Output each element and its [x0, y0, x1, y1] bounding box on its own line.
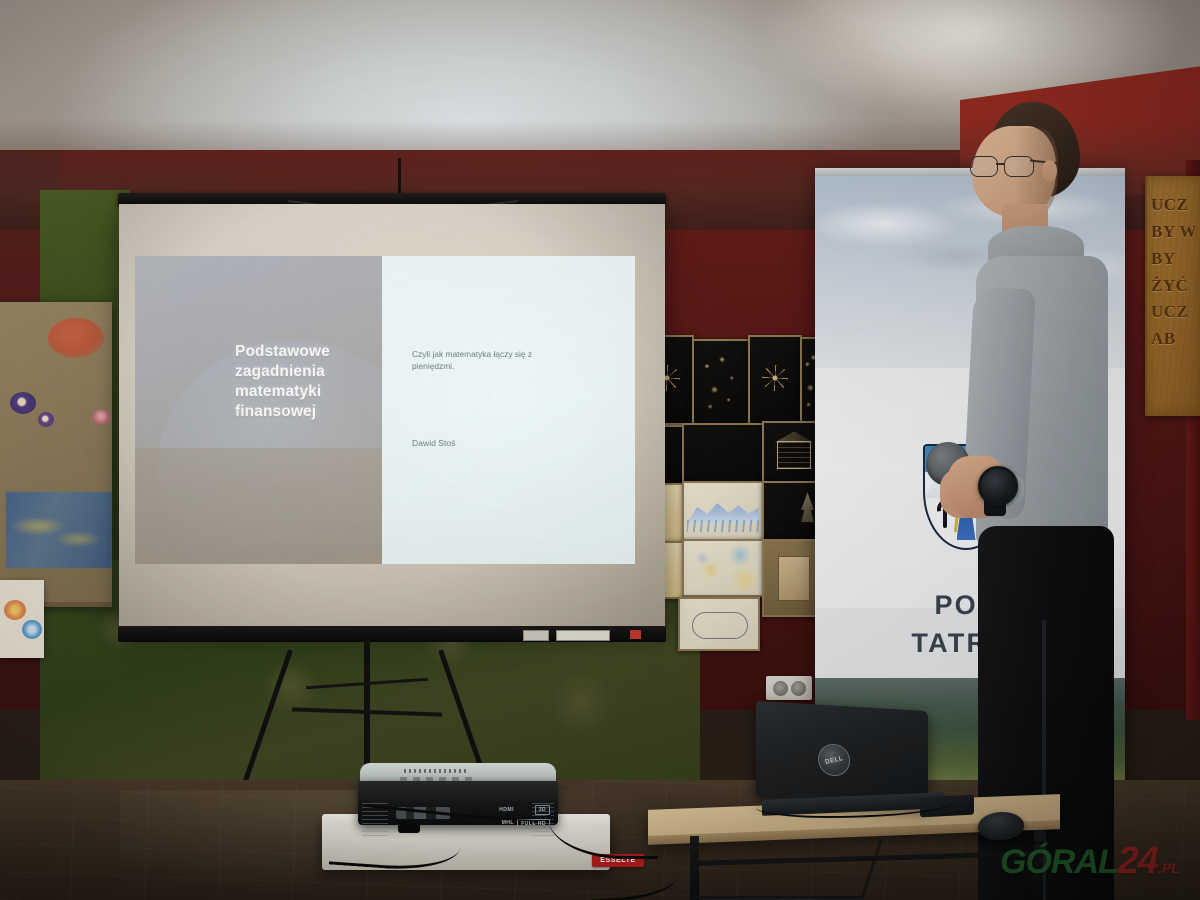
- slide-right-panel: Czyli jak matematyka łączy się z pienięd…: [382, 256, 635, 564]
- slide-subtitle: Czyli jak matematyka łączy się z pienięd…: [412, 348, 592, 372]
- slide-author: Dawid Stoś: [412, 438, 455, 448]
- screen-label-wide: [556, 630, 610, 641]
- artwork-gallery-wall: [640, 335, 820, 630]
- artwork-flower-violet: [38, 412, 54, 427]
- projector-vent: [404, 769, 468, 773]
- artwork-flower-blue-star: [22, 620, 42, 639]
- glasses-icon: [970, 156, 1034, 176]
- artwork-flower-purple: [10, 392, 36, 414]
- framed-object-shape: [778, 556, 810, 601]
- slide-title: Podstawowe zagadnienia matematyki finans…: [235, 342, 375, 423]
- fullhd-logo: FULL HD: [517, 819, 550, 829]
- screen-label-small: [523, 630, 549, 641]
- artwork-watercolor-mountains: [682, 481, 764, 541]
- power-outlet[interactable]: [766, 676, 812, 700]
- screen-support-rod: [398, 158, 401, 196]
- outlet-socket-left: [773, 681, 788, 696]
- watercolor-blobs-motif: [684, 541, 762, 595]
- slide-lower-band: [135, 448, 382, 564]
- glasses-bridge: [996, 163, 1005, 165]
- scratch-stars-motif: [694, 341, 748, 425]
- artwork-sun-shape: [48, 318, 104, 358]
- glasses-lens-left: [970, 156, 998, 177]
- scratch-flower-motif: [762, 365, 788, 391]
- student-artwork-small: [0, 580, 44, 658]
- watercolor-water-motif: [687, 520, 759, 532]
- artwork-watercolor-blobs: [682, 539, 764, 597]
- artwork-scratch-stars: [692, 339, 750, 427]
- artwork-dark-panel-2: [682, 423, 764, 485]
- table-diagonal-brace: [690, 840, 882, 899]
- artwork-scratch-flower-2: [748, 335, 802, 425]
- scratch-tree-motif: [801, 492, 814, 530]
- pencil-sketch-motif: [692, 612, 747, 639]
- projected-slide: Podstawowe zagadnienia matematyki finans…: [135, 256, 635, 564]
- artwork-flower-orange: [4, 600, 26, 620]
- artwork-flower-pink: [92, 410, 110, 424]
- dell-logo-text: DELL: [824, 755, 844, 766]
- photo-scene: POW TATRZA Podstawowe zagadnienia matema…: [0, 0, 1200, 900]
- outlet-socket-right: [791, 681, 806, 696]
- smartwatch-icon: [978, 466, 1018, 506]
- artwork-pencil-sketch: [678, 597, 760, 651]
- artwork-blue-wave: [6, 492, 112, 568]
- presenter-ear: [1042, 160, 1057, 182]
- screen-red-marker: [630, 630, 641, 639]
- mhl-logo: MHL: [502, 820, 514, 826]
- presenter: [930, 100, 1160, 900]
- scratch-cabin-motif: [777, 441, 811, 469]
